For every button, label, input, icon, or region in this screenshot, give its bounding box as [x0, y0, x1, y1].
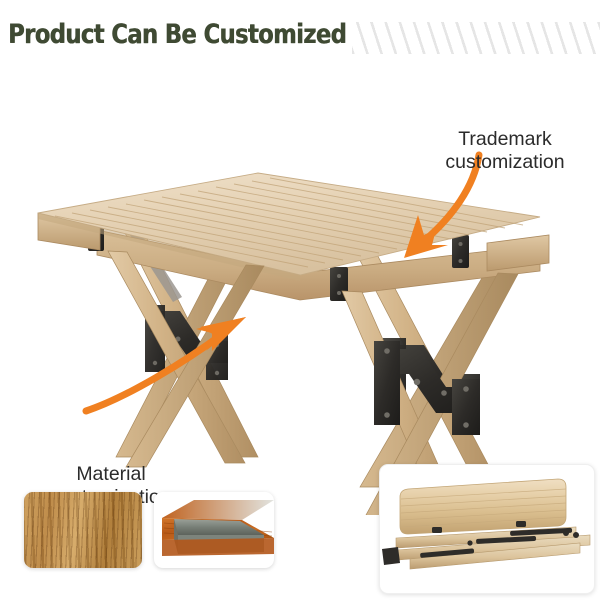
rolled-slat-top — [400, 479, 566, 534]
product-banner: Product Can Be Customized — [0, 0, 600, 600]
folded-table-drawing — [380, 465, 594, 593]
header: Product Can Be Customized — [0, 18, 600, 64]
callout-trademark-line2: customization — [417, 151, 593, 174]
diagonal-hatch-decoration — [352, 22, 600, 54]
wood-grain-swatch — [24, 492, 142, 568]
aluminium-tube-swatch — [154, 492, 274, 568]
callout-trademark-line1: Trademark — [417, 128, 593, 151]
strap-clip-left — [432, 527, 442, 533]
callout-material-line1: Material — [18, 463, 204, 486]
folded-product-inset — [379, 464, 595, 594]
page-title: Product Can Be Customized — [8, 18, 346, 52]
aluminium-tube-drawing — [154, 492, 274, 568]
callout-trademark: Trademark customization — [417, 128, 593, 174]
wood-grain-texture — [24, 492, 142, 568]
material-swatch-group — [24, 492, 274, 568]
strap-clip-right — [516, 521, 526, 527]
